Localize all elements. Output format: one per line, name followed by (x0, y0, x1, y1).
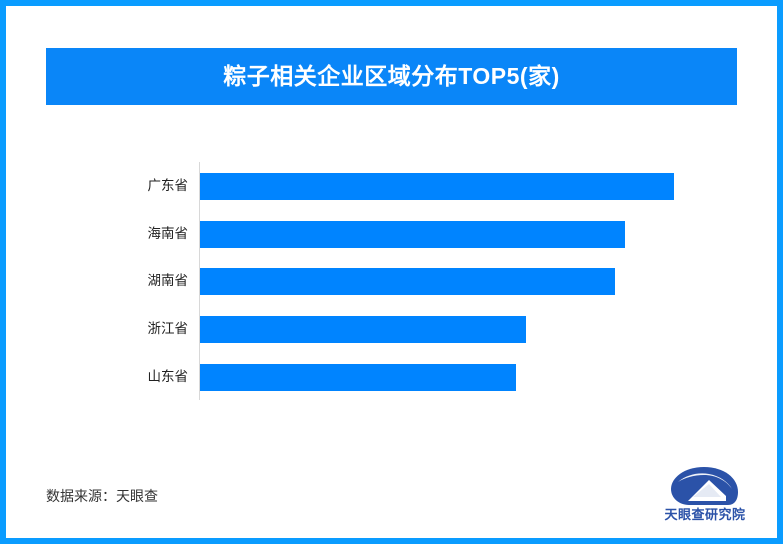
page-canvas: 粽子相关企业区域分布TOP5(家) 广东省 海南省 湖南省 浙江省 山东省 (0, 0, 783, 544)
category-label-1: 海南省 (46, 227, 188, 241)
chart-row-2: 湖南省 (46, 257, 737, 305)
logo: 天眼查研究院 (655, 466, 755, 528)
infographic-page: 粽子相关企业区域分布TOP5(家) 广东省 海南省 湖南省 浙江省 山东省 (0, 0, 783, 544)
logo-wordmark: 天眼查研究院 (655, 508, 755, 521)
title-banner: 粽子相关企业区域分布TOP5(家) (46, 48, 737, 105)
chart-row-4: 山东省 (46, 353, 737, 401)
category-label-3: 浙江省 (46, 322, 188, 336)
category-label-2: 湖南省 (46, 274, 188, 288)
bar-4[interactable] (200, 364, 516, 391)
page-title: 粽子相关企业区域分布TOP5(家) (223, 65, 559, 88)
tianyancha-eye-arc-logo-icon (668, 466, 740, 506)
bar-3[interactable] (200, 316, 526, 343)
data-source-label: 数据来源：天眼查 (46, 489, 158, 503)
chart-row-3: 浙江省 (46, 305, 737, 353)
bar-1[interactable] (200, 221, 625, 248)
bar-0[interactable] (200, 173, 674, 200)
category-label-4: 山东省 (46, 370, 188, 384)
chart-row-1: 海南省 (46, 210, 737, 258)
category-label-0: 广东省 (46, 179, 188, 193)
bar-chart: 广东省 海南省 湖南省 浙江省 山东省 (46, 150, 737, 415)
bar-2[interactable] (200, 268, 615, 295)
chart-row-0: 广东省 (46, 162, 737, 210)
